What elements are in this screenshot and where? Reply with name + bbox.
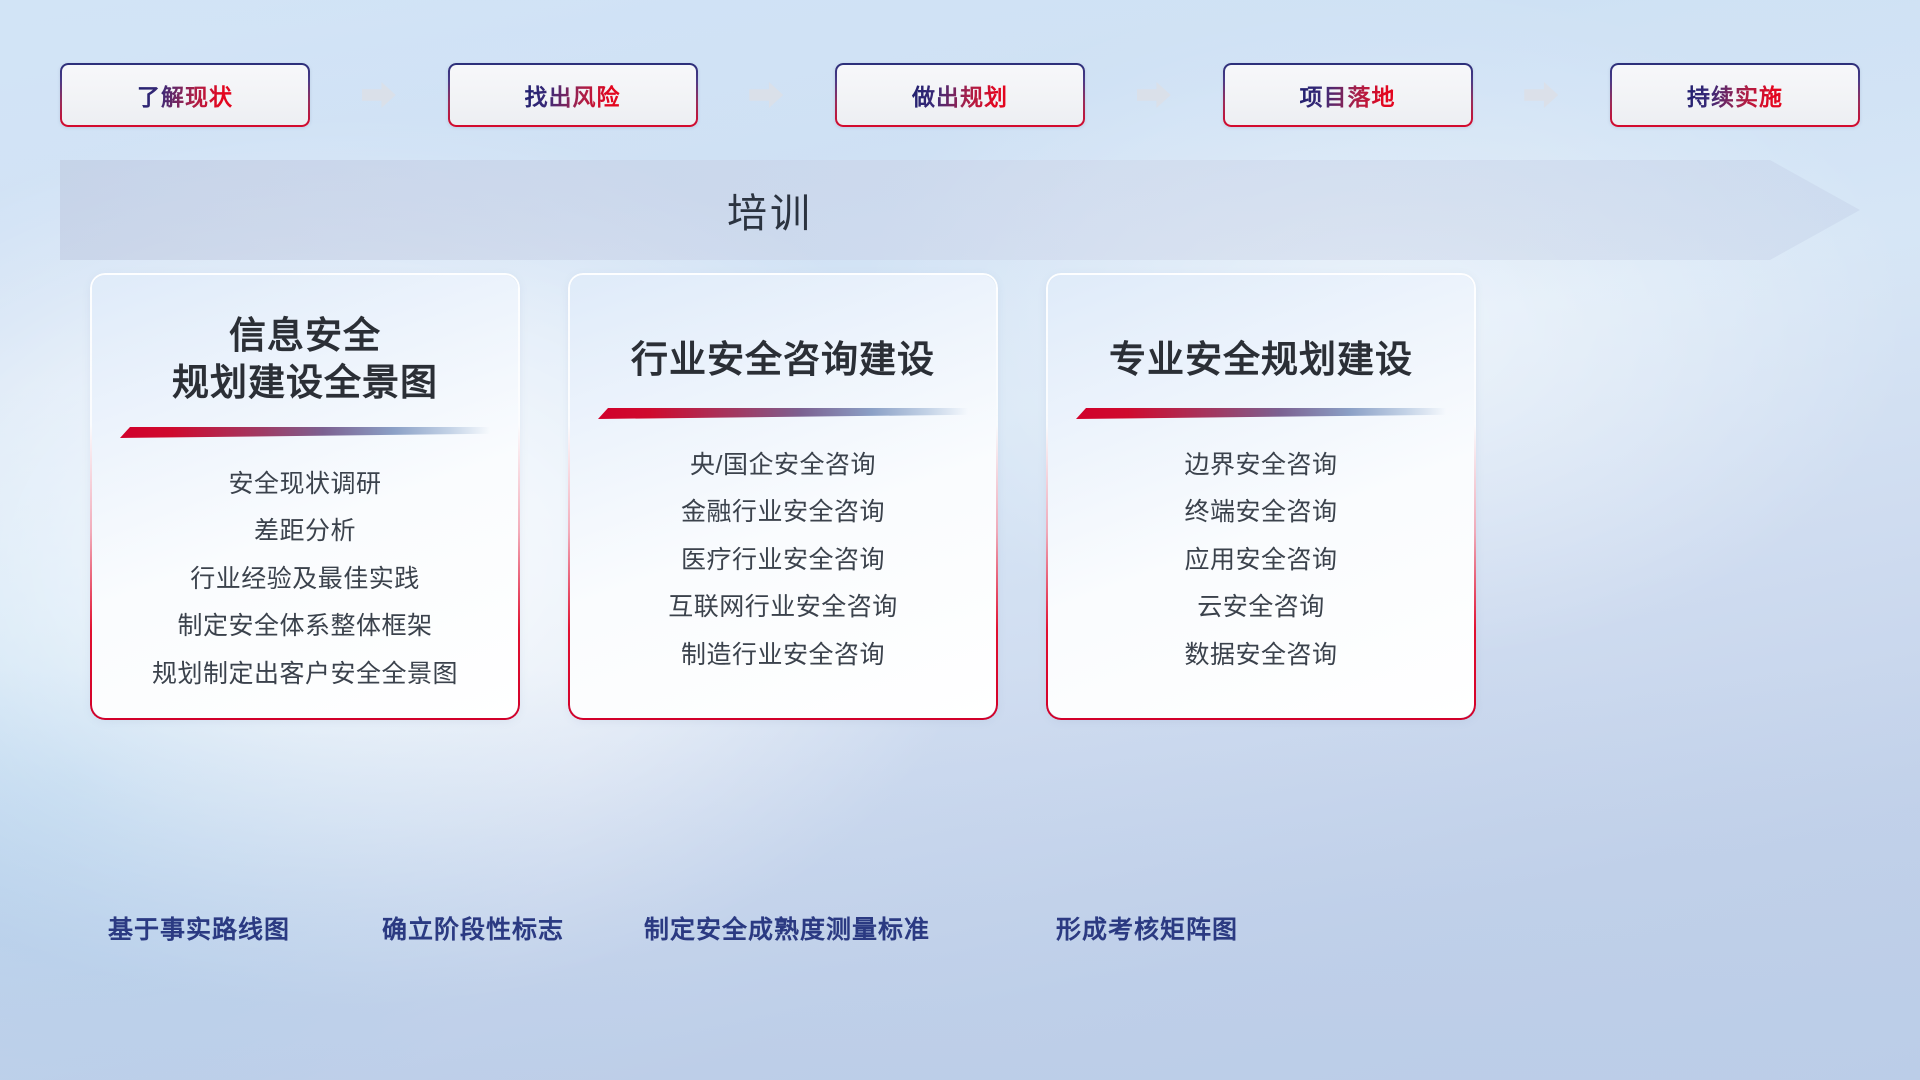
card-title: 专业安全规划建设 (1109, 337, 1413, 384)
list-item: 制定安全体系整体框架 (177, 606, 432, 647)
card-info-security-blueprint[interactable]: 信息安全 规划建设全景图 安全现状调研 差距分析 行业经验及最佳实践 制定安全体… (92, 275, 518, 718)
arrow-right-icon (1137, 82, 1171, 108)
bottom-label: 形成考核矩阵图 (1056, 910, 1238, 946)
list-item: 行业经验及最佳实践 (190, 559, 420, 600)
list-item: 云安全咨询 (1197, 587, 1325, 628)
bottom-label: 确立阶段性标志 (382, 910, 564, 946)
process-step-label: 了解现状 (137, 78, 233, 112)
list-item: 制造行业安全咨询 (681, 635, 885, 676)
card-title: 信息安全 规划建设全景图 (172, 313, 438, 407)
card-divider (598, 408, 968, 419)
list-item: 应用安全咨询 (1184, 540, 1337, 581)
card-item-list: 安全现状调研 差距分析 行业经验及最佳实践 制定安全体系整体框架 规划制定出客户… (92, 464, 518, 695)
process-step-1[interactable]: 找出风险 (448, 63, 698, 127)
process-step-label: 持续实施 (1687, 78, 1783, 112)
list-item: 边界安全咨询 (1184, 445, 1337, 486)
card-professional-security-planning[interactable]: 专业安全规划建设 边界安全咨询 终端安全咨询 应用安全咨询 云安全咨询 数据安全… (1048, 275, 1474, 718)
list-item: 互联网行业安全咨询 (668, 587, 898, 628)
bottom-label-row: 基于事实路线图 确立阶段性标志 制定安全成熟度测量标准 形成考核矩阵图 (0, 910, 1920, 954)
process-step-2[interactable]: 做出规划 (835, 63, 1085, 127)
list-item: 央/国企安全咨询 (690, 445, 876, 486)
card-item-list: 央/国企安全咨询 金融行业安全咨询 医疗行业安全咨询 互联网行业安全咨询 制造行… (570, 445, 996, 676)
list-item: 数据安全咨询 (1184, 635, 1337, 676)
process-step-label: 项目落地 (1300, 78, 1396, 112)
card-divider (1076, 408, 1446, 419)
list-item: 医疗行业安全咨询 (681, 540, 885, 581)
card-industry-security-consulting[interactable]: 行业安全咨询建设 央/国企安全咨询 金融行业安全咨询 医疗行业安全咨询 互联网行… (570, 275, 996, 718)
bottom-label: 制定安全成熟度测量标准 (644, 910, 930, 946)
list-item: 金融行业安全咨询 (681, 492, 885, 533)
list-item: 差距分析 (254, 511, 356, 552)
process-step-label: 找出风险 (525, 78, 621, 112)
list-item: 规划制定出客户安全全景图 (152, 654, 458, 695)
card-title: 行业安全咨询建设 (631, 337, 935, 384)
process-step-3[interactable]: 项目落地 (1223, 63, 1473, 127)
arrow-right-icon (362, 82, 396, 108)
process-step-4[interactable]: 持续实施 (1610, 63, 1860, 127)
arrow-right-icon (1524, 82, 1558, 108)
process-step-row: 了解现状 找出风险 做出规划 项目落地 持续实施 (60, 62, 1860, 128)
process-step-label: 做出规划 (912, 78, 1008, 112)
card-item-list: 边界安全咨询 终端安全咨询 应用安全咨询 云安全咨询 数据安全咨询 (1048, 445, 1474, 676)
list-item: 终端安全咨询 (1184, 492, 1337, 533)
training-banner-title: 培训 (0, 160, 1540, 260)
bottom-label: 基于事实路线图 (108, 910, 290, 946)
list-item: 安全现状调研 (228, 464, 381, 505)
arrow-right-icon (749, 82, 783, 108)
card-divider (120, 427, 490, 438)
process-step-0[interactable]: 了解现状 (60, 63, 310, 127)
card-row: 信息安全 规划建设全景图 安全现状调研 差距分析 行业经验及最佳实践 制定安全体… (92, 275, 1524, 720)
